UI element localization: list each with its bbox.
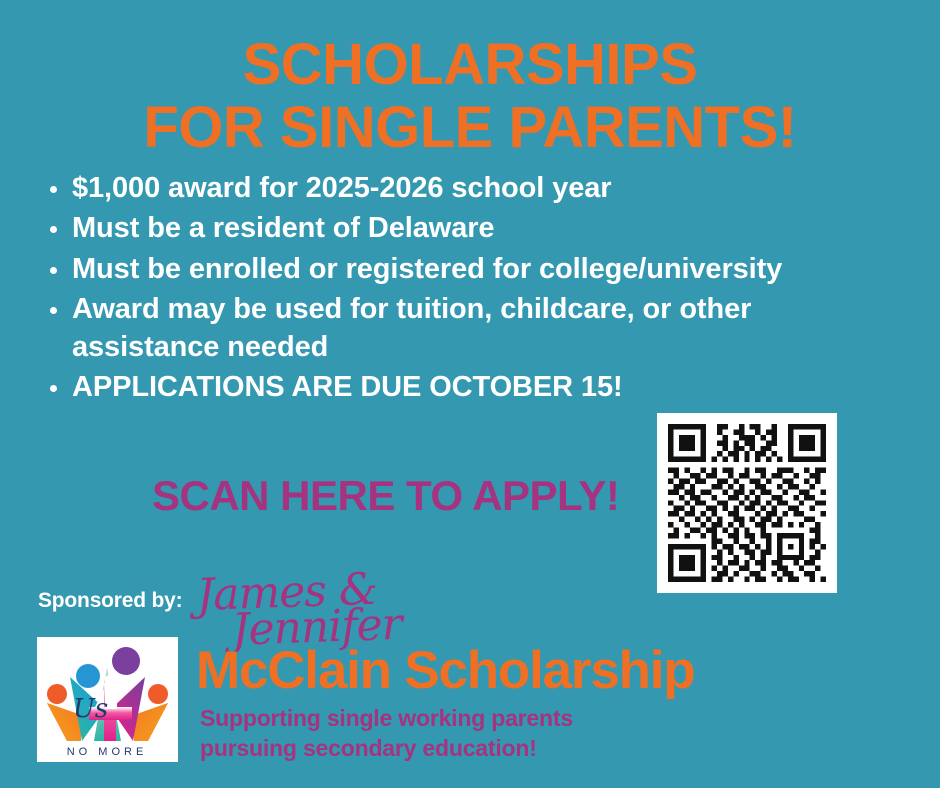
brand-title: McClain Scholarship [196,640,694,701]
sponsored-by-label: Sponsored by: [38,589,182,613]
qr-code[interactable] [657,413,837,593]
us-4-no-more-logo: Us NO MORE [37,637,178,762]
scholarship-flyer: SCHOLARSHIPS FOR SINGLE PARENTS! $1,000 … [0,0,940,788]
list-item: $1,000 award for 2025-2026 school year [40,170,900,207]
page-title: SCHOLARSHIPS FOR SINGLE PARENTS! [0,34,940,159]
eligibility-list: $1,000 award for 2025-2026 school year M… [40,170,900,409]
brand-tagline-line-1: Supporting single working parents [200,703,573,733]
list-item: APPLICATIONS ARE DUE OCTOBER 15! [40,369,900,406]
brand-tagline: Supporting single working parents pursui… [200,703,573,764]
sponsor-script-name: James & Jennifer [196,571,402,650]
headline-line-1: SCHOLARSHIPS [0,34,940,97]
logo-no-more-text: NO MORE [67,746,148,758]
headline-line-2: FOR SINGLE PARENTS! [0,97,940,160]
brand-tagline-line-2: pursuing secondary education! [200,733,573,763]
scan-here-label: SCAN HERE TO APPLY! [152,472,619,520]
list-item: Award may be used for tuition, childcare… [40,291,900,366]
list-item: Must be enrolled or registered for colle… [40,251,900,288]
logo-us-text: Us [73,694,108,724]
list-item: Must be a resident of Delaware [40,210,900,247]
